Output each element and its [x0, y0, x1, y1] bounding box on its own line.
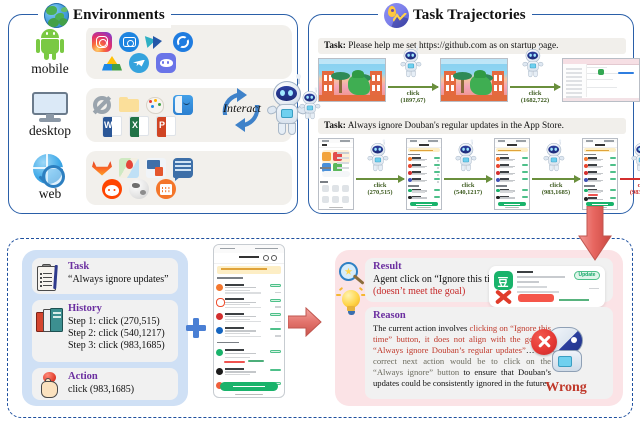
app-group-web — [86, 151, 292, 205]
interact-cycle: Interact — [213, 82, 269, 138]
trajectory-row-2: Task: Always ignore Douban's regular upd… — [318, 118, 626, 210]
action-heading: Action — [68, 371, 172, 384]
calendar-icon[interactable] — [156, 179, 176, 199]
plus-icon — [186, 318, 206, 338]
result-mini-screenshot: Update — [489, 266, 605, 307]
trajectory-screenshot-2-3[interactable] — [494, 138, 530, 210]
trajectory-step-2-2: click (540,1217) — [442, 138, 494, 197]
discord-icon[interactable] — [156, 53, 176, 73]
reason-block: Reason The current action involves click… — [365, 307, 613, 399]
wrong-robot-icon: Wrong — [531, 323, 601, 395]
task-trajectories-title: Task Trajectories — [378, 3, 532, 28]
flow-arrow — [510, 86, 560, 88]
magnifier-icon — [339, 262, 365, 288]
reason-seg-0: The current action involves — [373, 323, 470, 333]
trajectory-screenshot-2-4[interactable] — [582, 138, 618, 210]
trajectory-task-bar-1: Task: Please help me set https://github.… — [318, 38, 626, 54]
interact-label: Interact — [213, 101, 271, 116]
flow-arrow — [444, 178, 492, 180]
history-step-2: Step 2: click (540,1217) — [68, 328, 172, 340]
gitlab-icon[interactable] — [92, 158, 112, 178]
history-step-1: Step 1: click (270,515) — [68, 316, 172, 328]
instagram-icon[interactable] — [92, 32, 112, 52]
astronaut-robot-step-icon — [400, 48, 422, 78]
reddit-icon[interactable] — [102, 179, 122, 199]
google-maps-icon[interactable] — [119, 158, 139, 178]
astronaut-robot-step-icon — [367, 142, 389, 172]
globe-icon — [44, 3, 69, 28]
click-label-1-2: click (1682,722) — [521, 90, 549, 105]
environment-label-mobile: mobile — [14, 27, 86, 76]
flow-arrow — [388, 86, 438, 88]
paint-palette-icon[interactable] — [146, 95, 166, 115]
click-label-1-1: click (1897,67) — [400, 90, 425, 105]
task-text-2: Always ignore Douban's regular updates i… — [348, 121, 564, 131]
books-icon — [36, 308, 64, 332]
flow-arrow — [356, 178, 404, 180]
trajectory-screenshot-1-3[interactable] — [562, 58, 640, 102]
action-block: Action click (983,1685) — [32, 368, 178, 400]
app-group-mobile — [86, 25, 292, 79]
download-icon[interactable] — [146, 32, 166, 52]
env-caption-mobile: mobile — [31, 62, 69, 76]
trajectory-row-1: Task: Please help me set https://github.… — [318, 38, 626, 105]
red-down-arrow-icon — [578, 206, 612, 262]
reason-text: The current action involves clicking on … — [373, 323, 551, 389]
trajectory-screenshot-2-2[interactable] — [406, 138, 442, 210]
google-drive-icon[interactable] — [102, 53, 122, 73]
globe-magnifier-icon — [30, 154, 70, 186]
figure-root: Environments mobile — [0, 0, 640, 425]
task-prefix-1: Task: — [324, 41, 346, 51]
update-button-label: Update — [575, 271, 599, 279]
click-label-2-3: click (983,1685) — [542, 182, 570, 197]
trajectory-step-2-1: click (270,515) — [354, 138, 406, 197]
task-block: Task “Always ignore updates” — [32, 258, 178, 294]
task-prefix-2: Task: — [324, 121, 346, 131]
flow-arrow — [532, 178, 580, 180]
forum-icon[interactable] — [173, 158, 193, 178]
agent-input-card: Task “Always ignore updates” History Ste… — [22, 250, 188, 406]
click-label-2-2: click (540,1217) — [454, 182, 482, 197]
environment-label-web: web — [14, 154, 86, 201]
microsoft-powerpoint-icon[interactable] — [156, 116, 176, 136]
astronaut-robot-step-icon — [522, 48, 544, 78]
map-pin-trajectory-icon — [384, 3, 409, 28]
env-caption-web: web — [39, 187, 62, 201]
astronaut-robot-step-icon — [455, 142, 477, 172]
agent-output-card: Result Agent click on “Ignore this time”… — [335, 250, 623, 406]
trajectory-screenshot-1-1[interactable] — [318, 58, 386, 102]
monitor-icon — [30, 91, 70, 123]
trajectory-step-1-1: click (1897,67) — [386, 58, 440, 105]
environment-label-desktop: desktop — [14, 91, 86, 138]
astronaut-robot-step-icon — [543, 142, 565, 172]
settings-gear-grey-icon[interactable] — [92, 95, 112, 115]
settings-gear-blue-icon[interactable] — [173, 32, 193, 52]
ignore-this-time-button[interactable] — [518, 294, 554, 302]
camera-icon[interactable] — [119, 32, 139, 52]
always-ignore-button[interactable] — [559, 299, 589, 301]
result-block: Result Agent click on “Ignore this time”… — [365, 258, 613, 302]
microsoft-excel-icon[interactable] — [129, 116, 149, 136]
telegram-icon[interactable] — [129, 53, 149, 73]
tap-hand-icon — [37, 372, 63, 400]
douban-app-icon — [494, 271, 513, 290]
trajectory-task-bar-2: Task: Always ignore Douban's regular upd… — [318, 118, 626, 134]
trajectory-step-2-4: click (983,1685) — [618, 138, 640, 197]
env-caption-desktop: desktop — [29, 124, 71, 138]
history-heading: History — [68, 303, 172, 316]
clipboard-icon — [37, 264, 61, 291]
red-right-arrow-icon — [288, 307, 322, 337]
environments-title-label: Environments — [73, 7, 165, 24]
astronaut-robot-step-icon — [631, 142, 640, 172]
trajectory-screenshot-2-1[interactable] — [318, 138, 354, 210]
task-heading: Task — [68, 261, 172, 274]
task-text: “Always ignore updates” — [68, 274, 172, 286]
android-robot-icon — [33, 27, 67, 61]
trajectory-step-1-2: click (1682,722) — [508, 58, 562, 105]
click-label-2-4: click (983,1685) — [630, 182, 640, 197]
history-block: History Step 1: click (270,515) Step 2: … — [32, 300, 178, 362]
finder-icon[interactable] — [173, 95, 193, 115]
click-label-2-1: click (270,515) — [367, 182, 392, 197]
shopping-icon[interactable] — [146, 158, 166, 178]
action-text: click (983,1685) — [68, 384, 172, 396]
task-trajectories-title-label: Task Trajectories — [413, 7, 526, 24]
folder-icon[interactable] — [119, 95, 139, 115]
environment-row-web: web — [14, 148, 292, 208]
current-screenshot[interactable] — [213, 244, 285, 398]
environments-title: Environments — [38, 3, 171, 28]
microsoft-word-icon[interactable] — [102, 116, 122, 136]
reason-heading: Reason — [373, 310, 605, 323]
globe-grey-icon[interactable] — [129, 179, 149, 199]
trajectory-screenshot-1-2[interactable] — [440, 58, 508, 102]
flow-arrow-error — [620, 178, 640, 180]
trajectory-step-2-3: click (983,1685) — [530, 138, 582, 197]
environment-row-mobile: mobile — [14, 22, 292, 82]
red-x-icon — [494, 289, 514, 305]
lightbulb-icon — [338, 290, 364, 320]
history-step-3: Step 3: click (983,1685) — [68, 340, 172, 352]
verdict-label: Wrong — [531, 380, 601, 396]
